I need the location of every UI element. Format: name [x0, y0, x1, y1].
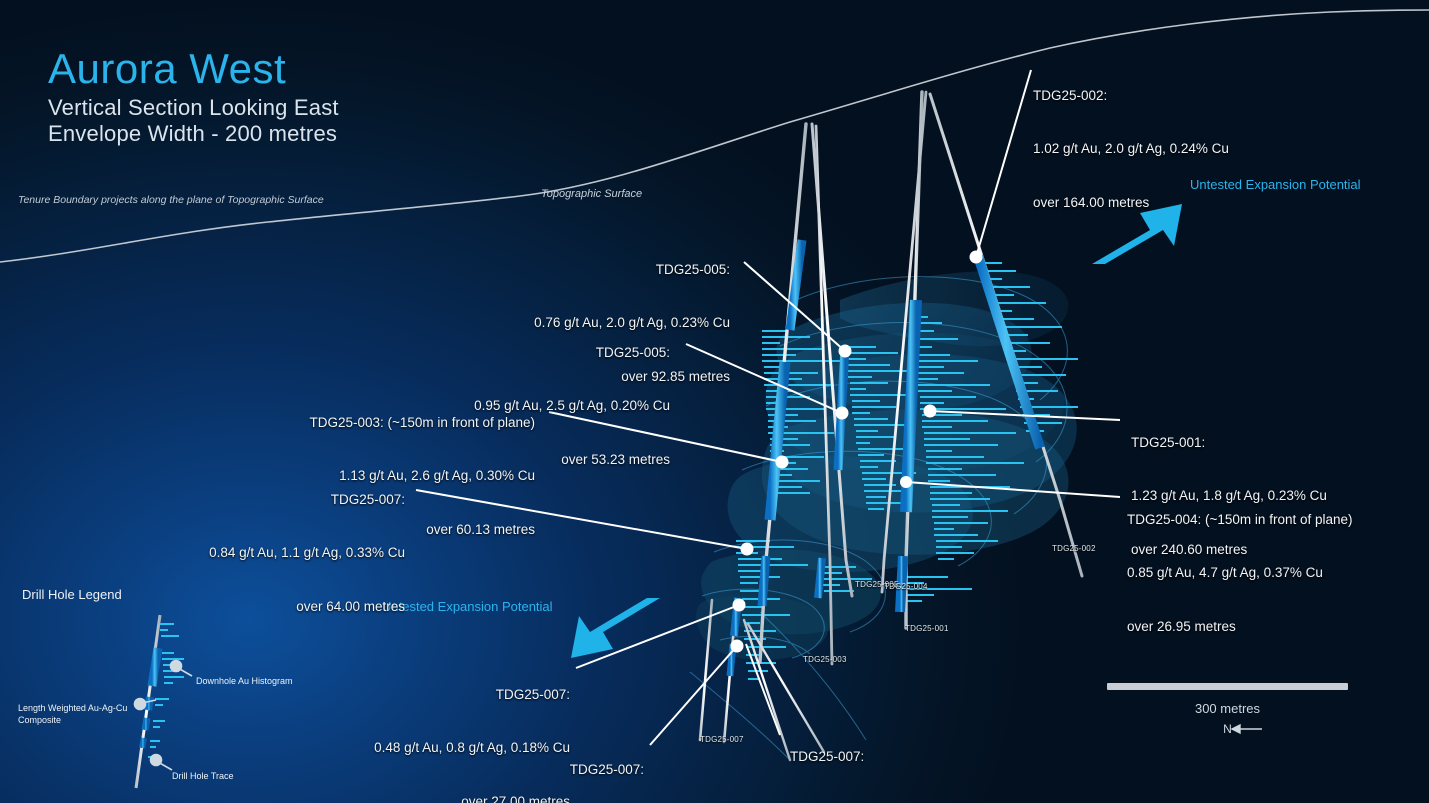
legend-trace-label: Drill Hole Trace	[172, 770, 234, 782]
holeid-tdg25-001: TDG25-001	[905, 624, 949, 633]
composite-005c	[762, 556, 766, 606]
holeid-tdg25-004: TDG25-004	[884, 582, 928, 591]
legend-composite-label: Length Weighted Au-Ag-Cu Composite	[18, 702, 136, 726]
holeid-tdg25-007: TDG25-007	[700, 735, 744, 744]
legend-histogram-label: Downhole Au Histogram	[196, 675, 293, 687]
title-sub-1: Vertical Section Looking East	[48, 95, 339, 121]
legend-title: Drill Hole Legend	[22, 587, 122, 602]
callout-tdg25-007-a: TDG25-007: 0.84 g/t Au, 1.1 g/t Ag, 0.33…	[100, 455, 405, 651]
untested-expansion-label-left: Untested Expansion Potential	[382, 599, 553, 614]
callout-tdg25-002: TDG25-002: 1.02 g/t Au, 2.0 g/t Ag, 0.24…	[1033, 51, 1229, 247]
title-sub-2: Envelope Width - 200 metres	[48, 121, 339, 147]
tenure-boundary-note: Tenure Boundary projects along the plane…	[18, 193, 324, 207]
page-title: Aurora West Vertical Section Looking Eas…	[48, 45, 339, 147]
expansion-arrow-left	[571, 598, 660, 658]
composite-003b	[818, 558, 822, 598]
holeid-tdg25-003: TDG25-003	[803, 655, 847, 664]
callout-tdg25-004: TDG25-004: (~150m in front of plane) 0.8…	[1127, 475, 1353, 671]
holeid-tdg25-002: TDG25-002	[1052, 544, 1096, 553]
composite-005a	[790, 240, 802, 330]
scale-bar-label: 300 metres	[1107, 701, 1348, 716]
callout-tdg25-007-d: TDG25-007: 0.59 g/t Au, 1.8 g/t Ag, 0.25…	[790, 712, 986, 803]
vertical-section-figure: Aurora West Vertical Section Looking Eas…	[0, 0, 1429, 803]
scale-bar	[1107, 683, 1348, 690]
title-main: Aurora West	[48, 45, 339, 93]
callout-tdg25-007-c: TDG25-007: 0.87 g/t Au, 1.5 g/t Ag, 0.22…	[340, 725, 644, 803]
north-label: N	[1107, 722, 1348, 736]
leader-tdg25-002	[976, 70, 1031, 257]
north-letter: N	[1223, 722, 1232, 736]
topographic-surface-label: Topographic Surface	[541, 188, 642, 200]
